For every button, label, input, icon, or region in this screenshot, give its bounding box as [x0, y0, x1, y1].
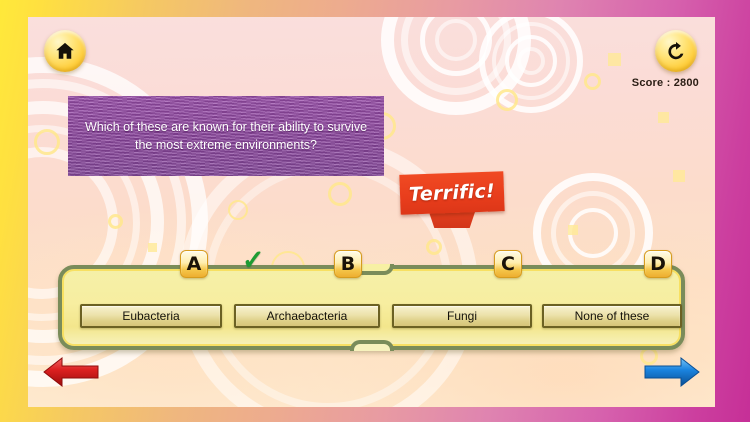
quiz-app-window: Score : 2800 Which of these are known fo…	[0, 0, 750, 422]
answer-letter-badge-b: B	[334, 250, 362, 278]
answer-button-c[interactable]: Fungi	[392, 304, 532, 328]
feedback-banner: Terrific!	[400, 173, 504, 228]
previous-button[interactable]	[42, 355, 100, 389]
answer-button-d[interactable]: None of these	[542, 304, 682, 328]
answer-option-d[interactable]: D None of these	[542, 269, 682, 354]
answer-button-a[interactable]: Eubacteria	[80, 304, 222, 328]
question-text: Which of these are known for their abili…	[82, 118, 370, 154]
answer-button-b[interactable]: Archaebacteria	[234, 304, 380, 328]
game-stage: Score : 2800 Which of these are known fo…	[28, 17, 715, 407]
answer-letter-badge-a: A	[180, 250, 208, 278]
question-panel: Which of these are known for their abili…	[68, 96, 384, 176]
feedback-text: Terrific!	[399, 171, 505, 215]
answer-option-a[interactable]: A Eubacteria	[80, 269, 222, 354]
home-button[interactable]	[44, 30, 86, 72]
home-icon	[54, 40, 76, 62]
replay-button[interactable]	[655, 30, 697, 72]
answer-option-c[interactable]: C Fungi	[392, 269, 532, 354]
next-button[interactable]	[643, 355, 701, 389]
replay-icon	[664, 39, 688, 63]
arrow-right-icon	[643, 355, 701, 389]
answer-option-b[interactable]: ✓ B Archaebacteria	[234, 269, 380, 354]
answers-panel: A Eubacteria ✓ B Archaebacteria C Fungi …	[58, 265, 685, 350]
arrow-left-icon	[42, 355, 100, 389]
answer-letter-badge-d: D	[644, 250, 672, 278]
answer-letter-badge-c: C	[494, 250, 522, 278]
score-label: Score : 2800	[632, 77, 699, 89]
correct-check-mark-icon: ✓	[242, 247, 265, 274]
